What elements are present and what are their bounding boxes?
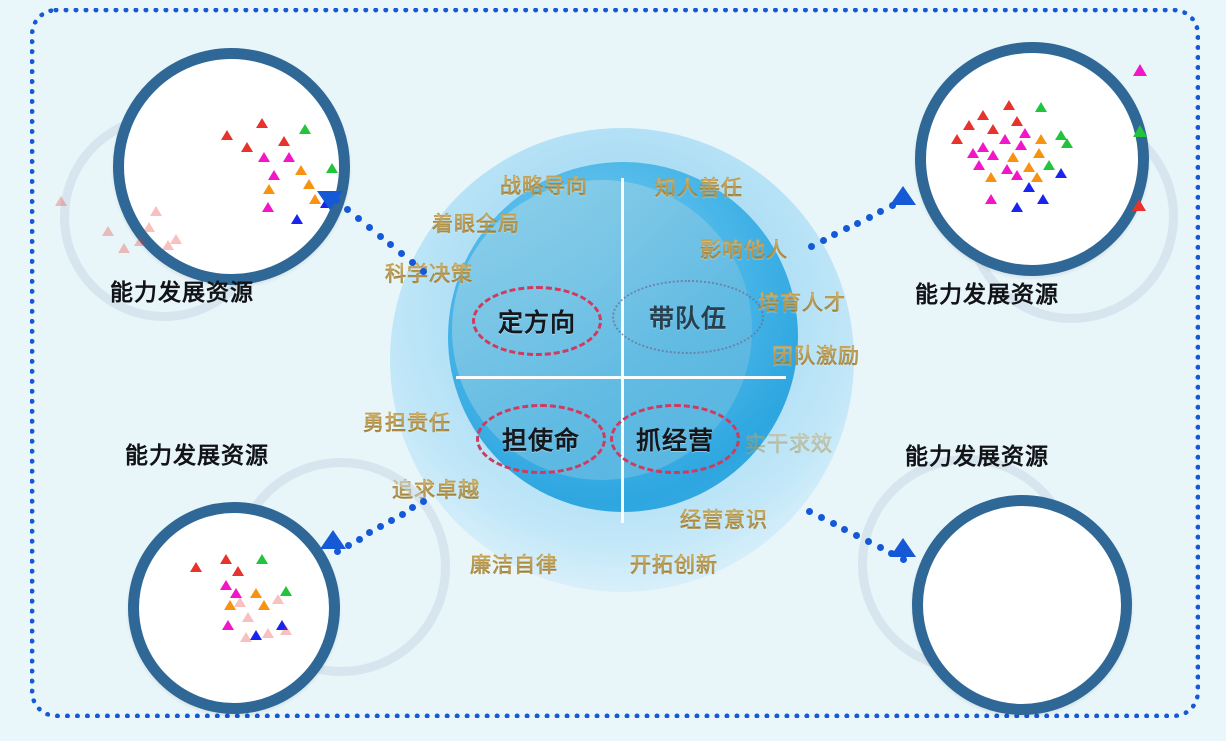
quadrant-vertical-divider bbox=[621, 178, 624, 523]
connector-dot bbox=[334, 548, 341, 555]
resource-marker-triangle bbox=[973, 160, 985, 170]
ghost-marker-triangle bbox=[240, 632, 252, 642]
quadrant-label: 带队伍 bbox=[649, 299, 727, 335]
resource-marker-triangle bbox=[1043, 160, 1055, 170]
ghost-marker-triangle bbox=[118, 243, 130, 253]
connector-dot bbox=[818, 514, 825, 521]
resource-circle[interactable] bbox=[912, 495, 1132, 715]
connector-dot bbox=[420, 498, 427, 505]
quadrant-ding-fang-xiang[interactable]: 定方向 bbox=[472, 286, 602, 356]
connector-dot bbox=[356, 536, 363, 543]
connector-dot bbox=[377, 233, 384, 240]
resource-marker-triangle bbox=[977, 110, 989, 120]
resource-node-label: 能力发展资源 bbox=[915, 275, 1059, 309]
keyword-label: 战略导向 bbox=[500, 170, 588, 200]
resource-circle[interactable] bbox=[915, 42, 1149, 276]
keyword-label: 实干求效 bbox=[745, 428, 833, 458]
connector-dot bbox=[830, 520, 837, 527]
quadrant-horizontal-divider bbox=[456, 376, 786, 379]
resource-marker-triangle bbox=[241, 142, 253, 152]
connector-dot bbox=[865, 538, 872, 545]
ghost-marker-triangle bbox=[262, 628, 274, 638]
ghost-marker-triangle bbox=[134, 236, 146, 246]
resource-marker-triangle bbox=[1035, 134, 1047, 144]
resource-marker-triangle bbox=[1011, 202, 1023, 212]
connector-dot bbox=[806, 508, 813, 515]
resource-marker-triangle bbox=[963, 120, 975, 130]
resource-marker-triangle bbox=[256, 554, 268, 564]
resource-marker-triangle bbox=[291, 214, 303, 224]
keyword-label: 科学决策 bbox=[385, 258, 473, 288]
keyword-label: 团队激励 bbox=[772, 340, 860, 370]
resource-circle[interactable] bbox=[113, 48, 350, 285]
connector-dot bbox=[854, 220, 861, 227]
resource-marker-triangle bbox=[1037, 194, 1049, 204]
connector-dot bbox=[877, 208, 884, 215]
stray-marker-triangle bbox=[1133, 64, 1147, 76]
keyword-label: 知人善任 bbox=[655, 172, 743, 202]
resource-marker-triangle bbox=[985, 194, 997, 204]
connector-dot bbox=[420, 268, 427, 275]
ghost-marker-triangle bbox=[150, 206, 162, 216]
connector-dot bbox=[399, 511, 406, 518]
resource-marker-triangle bbox=[258, 600, 270, 610]
ghost-marker-triangle bbox=[170, 234, 182, 244]
resource-marker-triangle bbox=[1011, 170, 1023, 180]
resource-marker-triangle bbox=[1033, 148, 1045, 158]
quadrant-dai-dui-wu[interactable]: 带队伍 bbox=[612, 280, 764, 354]
quadrant-dan-shi-ming[interactable]: 担使命 bbox=[476, 404, 606, 474]
connector-arrowhead-icon bbox=[890, 186, 916, 205]
stray-marker-triangle bbox=[1133, 125, 1147, 137]
ghost-marker-triangle bbox=[102, 226, 114, 236]
resource-marker-triangle bbox=[256, 118, 268, 128]
quadrant-label: 抓经营 bbox=[636, 421, 714, 457]
keyword-label: 培育人才 bbox=[758, 287, 846, 317]
resource-marker-triangle bbox=[268, 170, 280, 180]
ghost-marker-triangle bbox=[242, 612, 254, 622]
resource-marker-triangle bbox=[999, 134, 1011, 144]
resource-marker-triangle bbox=[967, 148, 979, 158]
resource-marker-triangle bbox=[1015, 140, 1027, 150]
connector-dot bbox=[808, 243, 815, 250]
resource-marker-triangle bbox=[985, 172, 997, 182]
resource-marker-triangle bbox=[278, 136, 290, 146]
connector-dot bbox=[820, 237, 827, 244]
resource-marker-triangle bbox=[987, 150, 999, 160]
resource-marker-triangle bbox=[1061, 138, 1073, 148]
resource-marker-triangle bbox=[232, 566, 244, 576]
quadrant-label: 担使命 bbox=[502, 421, 580, 457]
resource-marker-triangle bbox=[295, 165, 307, 175]
resource-marker-triangle bbox=[1019, 128, 1031, 138]
resource-marker-triangle bbox=[1023, 182, 1035, 192]
connector-dot bbox=[377, 523, 384, 530]
resource-marker-triangle bbox=[250, 588, 262, 598]
resource-node-label: 能力发展资源 bbox=[905, 437, 1049, 471]
keyword-label: 开拓创新 bbox=[630, 549, 718, 579]
resource-marker-triangle bbox=[220, 554, 232, 564]
resource-marker-triangle bbox=[1031, 172, 1043, 182]
connector-dot bbox=[355, 215, 362, 222]
resource-marker-triangle bbox=[951, 134, 963, 144]
resource-marker-triangle bbox=[326, 163, 338, 173]
stray-marker-triangle bbox=[1132, 199, 1146, 211]
resource-marker-triangle bbox=[303, 179, 315, 189]
connector-dot bbox=[388, 517, 395, 524]
resource-marker-triangle bbox=[1003, 100, 1015, 110]
resource-node-label: 能力发展资源 bbox=[125, 436, 269, 470]
resource-marker-triangle bbox=[221, 130, 233, 140]
resource-marker-triangle bbox=[987, 124, 999, 134]
resource-marker-triangle bbox=[1011, 116, 1023, 126]
connector-dot bbox=[366, 224, 373, 231]
resource-marker-triangle bbox=[263, 184, 275, 194]
connector-arrowhead-icon bbox=[320, 530, 346, 549]
connector-arrowhead-icon bbox=[890, 538, 916, 557]
keyword-label: 经营意识 bbox=[680, 504, 768, 534]
resource-marker-triangle bbox=[222, 620, 234, 630]
resource-marker-triangle bbox=[299, 124, 311, 134]
resource-marker-triangle bbox=[1055, 168, 1067, 178]
ghost-marker-triangle bbox=[143, 222, 155, 232]
connector-dot bbox=[900, 556, 907, 563]
connector-dot bbox=[866, 214, 873, 221]
connector-dot bbox=[344, 206, 351, 213]
keyword-label: 影响他人 bbox=[700, 234, 788, 264]
connector-dot bbox=[877, 544, 884, 551]
ghost-marker-triangle bbox=[234, 597, 246, 607]
diagram-canvas: 定方向 带队伍 担使命 抓经营 战略导向着眼全局科学决策知人善任影响他人培育人才… bbox=[0, 0, 1226, 741]
ghost-marker-triangle bbox=[272, 594, 284, 604]
resource-marker-triangle bbox=[283, 152, 295, 162]
keyword-label: 廉洁自律 bbox=[470, 549, 558, 579]
keyword-label: 勇担责任 bbox=[363, 407, 451, 437]
ghost-marker-triangle bbox=[55, 196, 67, 206]
resource-node-label: 能力发展资源 bbox=[110, 273, 254, 307]
resource-marker-triangle bbox=[1035, 102, 1047, 112]
connector-dot bbox=[843, 225, 850, 232]
quadrant-label: 定方向 bbox=[498, 303, 576, 339]
resource-marker-triangle bbox=[262, 202, 274, 212]
resource-marker-triangle bbox=[1023, 162, 1035, 172]
connector-dot bbox=[853, 532, 860, 539]
resource-marker-triangle bbox=[258, 152, 270, 162]
resource-marker-triangle bbox=[1007, 152, 1019, 162]
quadrant-zhua-jing-ying[interactable]: 抓经营 bbox=[610, 404, 740, 474]
keyword-label: 着眼全局 bbox=[432, 208, 520, 238]
ghost-marker-triangle bbox=[280, 625, 292, 635]
resource-marker-triangle bbox=[190, 562, 202, 572]
connector-arrowhead-icon bbox=[317, 191, 343, 210]
